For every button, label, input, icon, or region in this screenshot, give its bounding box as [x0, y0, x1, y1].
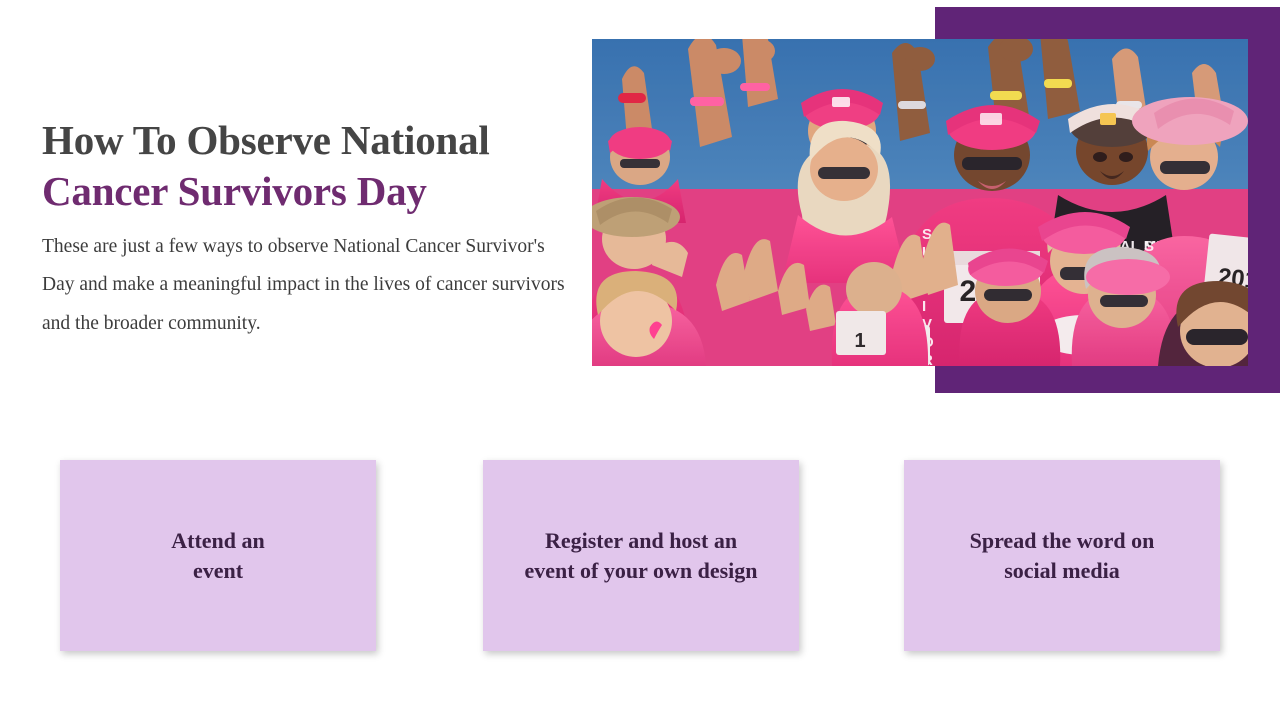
observance-card-attend-an-event[interactable]: Attend an event — [60, 460, 376, 651]
slide-canvas: REAL MEN WEAR PINK 20 — [0, 0, 1280, 720]
intro-paragraph: These are just a few ways to observe Nat… — [42, 228, 574, 344]
observance-card-label: Spread the word on social media — [970, 526, 1155, 584]
survivors-photo: REAL MEN WEAR PINK 20 — [592, 39, 1248, 366]
page-title: How To Observe National Cancer Survivors… — [42, 115, 582, 217]
observance-card-label: Attend an event — [171, 526, 265, 584]
observance-card-register-and-host[interactable]: Register and host an event of your own d… — [483, 460, 799, 651]
survivors-photo-illustration: REAL MEN WEAR PINK 20 — [592, 39, 1248, 366]
observance-ways-card-row: Attend an event Register and host an eve… — [0, 460, 1280, 660]
page-title-line-1: How To Observe National — [42, 117, 490, 163]
observance-card-spread-the-word[interactable]: Spread the word on social media — [904, 460, 1220, 651]
page-title-line-2: Cancer Survivors Day — [42, 166, 582, 217]
observance-card-label: Register and host an event of your own d… — [524, 526, 757, 584]
